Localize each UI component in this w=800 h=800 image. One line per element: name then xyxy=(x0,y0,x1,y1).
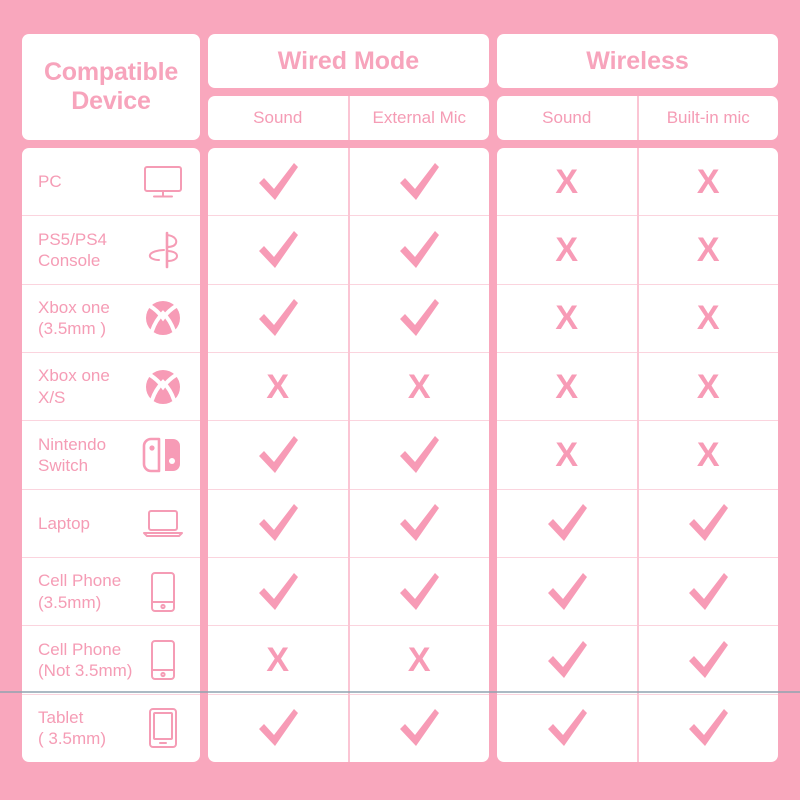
mark-cell: X xyxy=(350,352,490,420)
xbox-icon xyxy=(140,297,186,339)
check-icon xyxy=(255,434,301,476)
header-device-title-line2: Device xyxy=(71,87,150,116)
tablet-icon xyxy=(140,707,186,749)
check-icon xyxy=(396,161,442,203)
marks-column-wired-external-mic: XX xyxy=(348,148,490,762)
mark-cell: X xyxy=(497,352,637,420)
mark-cell xyxy=(350,489,490,557)
header-subcolumn-wired-external-mic: External Mic xyxy=(348,96,490,140)
check-icon xyxy=(255,571,301,613)
mark-cell xyxy=(350,284,490,352)
header-subcolumns-wired: Sound External Mic xyxy=(208,96,489,140)
check-icon xyxy=(396,297,442,339)
mark-cell: X xyxy=(639,420,779,488)
check-icon xyxy=(396,502,442,544)
header-subcolumn-wireless-builtin-mic: Built-in mic xyxy=(637,96,779,140)
mark-cell: X xyxy=(497,420,637,488)
device-label: Cell Phone (3.5mm) xyxy=(38,570,121,613)
xbox-icon xyxy=(140,366,186,408)
phone-icon xyxy=(140,639,186,681)
check-icon xyxy=(396,707,442,749)
mark-cell xyxy=(208,148,348,215)
device-label: Xbox one X/S xyxy=(38,365,110,408)
mark-cell xyxy=(208,557,348,625)
check-icon xyxy=(255,229,301,271)
check-icon xyxy=(685,639,731,681)
mark-cell: X xyxy=(208,625,348,693)
device-label: Cell Phone (Not 3.5mm) xyxy=(38,639,132,682)
mark-cell xyxy=(497,625,637,693)
check-icon xyxy=(685,707,731,749)
monitor-icon xyxy=(140,161,186,203)
device-row: Cell Phone (3.5mm) xyxy=(22,557,200,625)
device-label: Tablet ( 3.5mm) xyxy=(38,707,106,750)
mark-cell: X xyxy=(639,284,779,352)
x-icon: X xyxy=(697,165,720,199)
mark-cell xyxy=(208,284,348,352)
mark-cell: X xyxy=(639,352,779,420)
device-column: PCPS5/PS4 ConsoleXbox one (3.5mm )Xbox o… xyxy=(22,148,200,762)
marks-column-wireless-sound: XXXXX xyxy=(497,148,637,762)
mark-cell xyxy=(350,694,490,762)
mark-cell xyxy=(497,694,637,762)
x-icon: X xyxy=(697,233,720,267)
device-row: Cell Phone (Not 3.5mm) xyxy=(22,625,200,693)
mark-cell xyxy=(639,694,779,762)
mark-cell: X xyxy=(350,625,490,693)
device-label: Xbox one (3.5mm ) xyxy=(38,297,110,340)
check-icon xyxy=(685,571,731,613)
mark-cell xyxy=(208,694,348,762)
device-row: Tablet ( 3.5mm) xyxy=(22,694,200,762)
check-icon xyxy=(255,707,301,749)
playstation-icon xyxy=(140,229,186,271)
horizontal-rule xyxy=(0,691,800,693)
header-group-title-wired: Wired Mode xyxy=(208,34,489,88)
table-body: PCPS5/PS4 ConsoleXbox one (3.5mm )Xbox o… xyxy=(22,148,778,762)
mark-cell: X xyxy=(639,215,779,283)
mark-cell xyxy=(639,557,779,625)
mark-cell: X xyxy=(208,352,348,420)
x-icon: X xyxy=(555,370,578,404)
check-icon xyxy=(685,502,731,544)
mark-cell xyxy=(350,420,490,488)
mark-cell xyxy=(497,557,637,625)
x-icon: X xyxy=(697,301,720,335)
check-icon xyxy=(544,639,590,681)
check-icon xyxy=(544,502,590,544)
check-icon xyxy=(396,229,442,271)
device-label: Laptop xyxy=(38,513,90,534)
device-label: Nintendo Switch xyxy=(38,434,106,477)
mark-cell: X xyxy=(497,215,637,283)
compatibility-table: Compatible Device Wired Mode Sound Exter… xyxy=(22,34,778,762)
check-icon xyxy=(255,161,301,203)
check-icon xyxy=(255,297,301,339)
mark-cell xyxy=(208,215,348,283)
header-subcolumns-wireless: Sound Built-in mic xyxy=(497,96,778,140)
x-icon: X xyxy=(697,370,720,404)
mark-cell xyxy=(350,557,490,625)
x-icon: X xyxy=(266,643,289,677)
header-device-cell: Compatible Device xyxy=(22,34,200,140)
x-icon: X xyxy=(555,233,578,267)
mark-cell xyxy=(208,489,348,557)
mark-cell xyxy=(639,625,779,693)
header-device-title-line1: Compatible xyxy=(44,58,178,87)
check-icon xyxy=(396,571,442,613)
device-row: Xbox one (3.5mm ) xyxy=(22,284,200,352)
table-header: Compatible Device Wired Mode Sound Exter… xyxy=(22,34,778,140)
x-icon: X xyxy=(408,643,431,677)
x-icon: X xyxy=(555,165,578,199)
device-row: PC xyxy=(22,148,200,215)
nintendo-switch-icon xyxy=(140,434,186,476)
marks-group-wired: XX XX xyxy=(208,148,489,762)
mark-cell: X xyxy=(497,148,637,215)
x-icon: X xyxy=(266,370,289,404)
check-icon xyxy=(255,502,301,544)
header-group-wired: Wired Mode Sound External Mic xyxy=(208,34,489,140)
header-group-title-wireless: Wireless xyxy=(497,34,778,88)
header-subcolumn-wireless-sound: Sound xyxy=(497,96,637,140)
x-icon: X xyxy=(555,438,578,472)
mark-cell xyxy=(208,420,348,488)
device-row: PS5/PS4 Console xyxy=(22,215,200,283)
header-group-wireless: Wireless Sound Built-in mic xyxy=(497,34,778,140)
mark-cell xyxy=(350,148,490,215)
mark-cell xyxy=(639,489,779,557)
device-label: PS5/PS4 Console xyxy=(38,229,107,272)
x-icon: X xyxy=(555,301,578,335)
mark-cell xyxy=(350,215,490,283)
device-label: PC xyxy=(38,171,62,192)
header-subcolumn-wired-sound: Sound xyxy=(208,96,348,140)
laptop-icon xyxy=(140,502,186,544)
marks-column-wired-sound: XX xyxy=(208,148,348,762)
marks-group-wireless: XXXXX XXXXX xyxy=(497,148,778,762)
mark-cell xyxy=(497,489,637,557)
device-row: Laptop xyxy=(22,489,200,557)
check-icon xyxy=(396,434,442,476)
x-icon: X xyxy=(697,438,720,472)
device-row: Xbox one X/S xyxy=(22,352,200,420)
mark-cell: X xyxy=(497,284,637,352)
phone-icon xyxy=(140,571,186,613)
device-row: Nintendo Switch xyxy=(22,420,200,488)
mark-cell: X xyxy=(639,148,779,215)
x-icon: X xyxy=(408,370,431,404)
check-icon xyxy=(544,571,590,613)
check-icon xyxy=(544,707,590,749)
marks-column-wireless-builtin-mic: XXXXX xyxy=(637,148,779,762)
